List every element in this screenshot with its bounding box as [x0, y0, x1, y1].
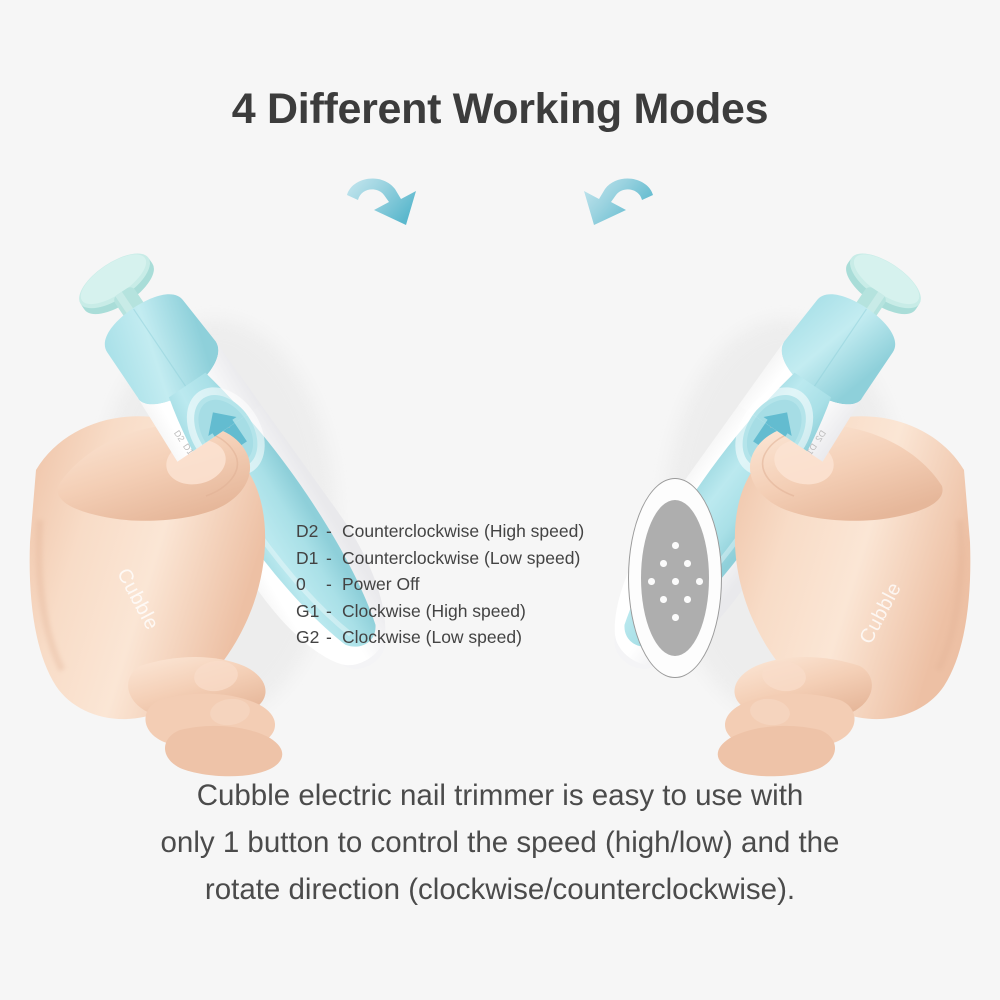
- caption-line: Cubble electric nail trimmer is easy to …: [75, 772, 925, 819]
- right-mode-button-arrow-icon: [749, 403, 801, 458]
- legend-row: D2 - Counterclockwise (High speed): [296, 518, 626, 545]
- clockwise-rotation-arrow-icon: [347, 179, 416, 225]
- mode-code: D1: [296, 545, 326, 572]
- sanding-disc-illustration: [628, 478, 724, 680]
- mode-dash: -: [326, 598, 342, 625]
- svg-text:0: 0: [799, 455, 810, 465]
- left-hand: [30, 406, 283, 776]
- left-hand-finger-2: [145, 694, 275, 751]
- mode-dash: -: [326, 571, 342, 598]
- left-device-brand-text: Cubble: [111, 565, 162, 634]
- svg-text:G2: G2: [778, 480, 793, 496]
- svg-text:0: 0: [190, 455, 201, 465]
- svg-text:D1: D1: [804, 442, 819, 457]
- right-hand-finger-1: [734, 657, 871, 721]
- right-hand-finger-3: [718, 726, 835, 776]
- mode-dash: -: [326, 624, 342, 651]
- legend-row: G2 - Clockwise (Low speed): [296, 624, 626, 651]
- sanding-disc-dot: [648, 578, 655, 585]
- sanding-disc-dot: [684, 596, 691, 603]
- svg-text:0: 0: [190, 455, 201, 465]
- caption-line: only 1 button to control the speed (high…: [75, 819, 925, 866]
- right-sanding-disc-head: [825, 243, 929, 343]
- sanding-disc-dot: [672, 542, 679, 549]
- product-caption: Cubble electric nail trimmer is easy to …: [75, 772, 925, 913]
- sanding-disc-dot: [672, 614, 679, 621]
- right-device-mode-markings: D2 D1 0 G1 G2: [778, 428, 828, 495]
- mode-dash: -: [326, 545, 342, 572]
- svg-text:D1: D1: [181, 442, 196, 457]
- right-hand-finger-2: [725, 694, 855, 751]
- mode-description: Counterclockwise (High speed): [342, 518, 626, 545]
- svg-text:D2: D2: [172, 428, 187, 443]
- mode-dash: -: [326, 518, 342, 545]
- caption-line: rotate direction (clockwise/counterclock…: [75, 866, 925, 913]
- mode-code: G2: [296, 624, 326, 651]
- svg-text:0: 0: [799, 455, 810, 465]
- mode-code: 0: [296, 571, 326, 598]
- sanding-disc-dot: [684, 560, 691, 567]
- page-title: 4 Different Working Modes: [0, 85, 1000, 134]
- svg-text:D1: D1: [804, 442, 819, 457]
- mode-code: D2: [296, 518, 326, 545]
- svg-text:D1: D1: [181, 442, 196, 457]
- svg-text:D2: D2: [813, 428, 828, 443]
- left-hand-finger-3: [165, 726, 282, 776]
- left-hand-finger-1: [128, 657, 265, 721]
- right-device-collar: [770, 280, 906, 417]
- product-feature-graphic: D2 D1 0 G1 G2: [0, 0, 1000, 1000]
- left-sanding-disc-head: [71, 243, 175, 343]
- mode-description: Clockwise (Low speed): [342, 624, 626, 651]
- svg-text:G1: G1: [198, 467, 213, 483]
- sanding-disc-dot: [660, 596, 667, 603]
- left-mode-button-arrow-icon: [199, 403, 251, 458]
- counterclockwise-rotation-arrow-icon: [584, 179, 653, 225]
- mode-description: Power Off: [342, 571, 626, 598]
- left-device-mode-markings: D2 D1 0 G1 G2: [172, 428, 222, 495]
- right-hand: [718, 406, 971, 776]
- working-modes-legend: D2 - Counterclockwise (High speed) D1 - …: [296, 518, 626, 651]
- svg-text:G1: G1: [787, 467, 802, 483]
- left-device-and-hand: D2 D1 0 G1 G2: [30, 179, 420, 777]
- legend-row: D1 - Counterclockwise (Low speed): [296, 545, 626, 572]
- mode-code: G1: [296, 598, 326, 625]
- mode-description: Clockwise (High speed): [342, 598, 626, 625]
- legend-row: 0 - Power Off: [296, 571, 626, 598]
- right-device-brand-text: Cubble: [855, 579, 906, 648]
- sanding-disc-dot: [672, 578, 679, 585]
- sanding-disc-dot: [696, 578, 703, 585]
- svg-text:D2: D2: [172, 428, 187, 443]
- svg-text:G2: G2: [207, 480, 222, 496]
- mode-description: Counterclockwise (Low speed): [342, 545, 626, 572]
- left-device-collar: [95, 280, 231, 417]
- svg-text:D2: D2: [813, 428, 828, 443]
- sanding-disc-dot: [660, 560, 667, 567]
- legend-row: G1 - Clockwise (High speed): [296, 598, 626, 625]
